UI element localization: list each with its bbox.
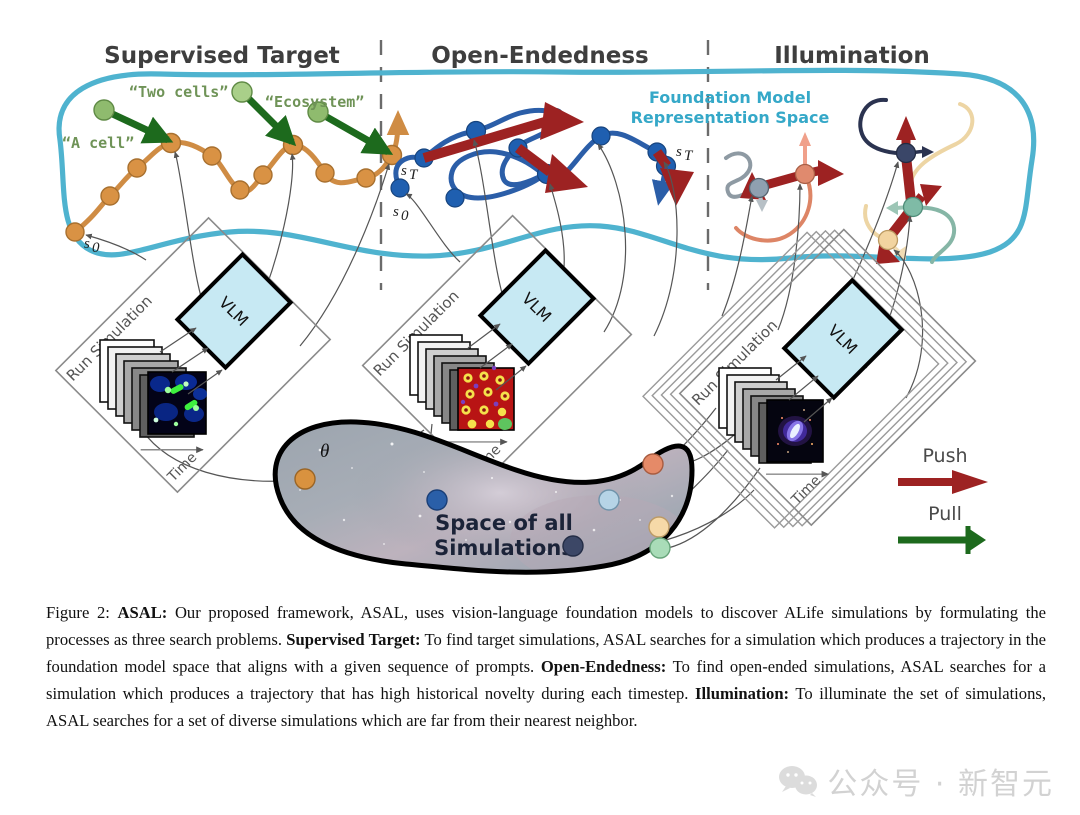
legend: Push Pull (898, 445, 988, 554)
teal-tail (913, 208, 954, 262)
legend-pull-arrow (898, 526, 986, 554)
trajectory-node (231, 181, 249, 199)
caption-heading-illumination: Illumination: (695, 684, 789, 703)
prompt-label-two-cells: “Two cells” (129, 83, 228, 101)
trajectory-node (592, 127, 610, 145)
illumination-point-gray (750, 179, 769, 198)
vlm-box-illumination: VLM (784, 280, 901, 397)
sim-point-ltblue (599, 490, 619, 510)
connector (175, 152, 202, 300)
state-label-s0-sub: 0 (401, 208, 409, 224)
state-label-sT-sub: T (409, 167, 419, 183)
connector (654, 162, 677, 336)
figure-root: Supervised Target Open-Endedness Illumin… (0, 0, 1080, 815)
prompt-dot (94, 100, 114, 120)
column-title-open-endedness: Open-Endedness (431, 43, 649, 69)
sim-point-navy (563, 536, 583, 556)
legend-push-arrow (898, 470, 988, 494)
sim-point-green (650, 538, 670, 558)
frame-stack-openended (410, 335, 514, 430)
illumination-point-teal (904, 198, 923, 217)
trajectory-node (128, 159, 146, 177)
trajectory-node (316, 164, 334, 182)
caption-heading-openendedness: Open-Endedness: (541, 657, 666, 676)
frame-arrow (160, 328, 196, 352)
frame-arrow (468, 324, 500, 348)
pull-arrow (318, 112, 388, 152)
illumination-point-tan (879, 231, 898, 250)
vlm-box-supervised: VLM (177, 254, 290, 367)
small-arrow-head (799, 132, 811, 146)
prompt-label-a-cell: “A cell” (62, 134, 134, 152)
watermark: 公众号 · 新智元 (778, 759, 1054, 803)
run-simulation-box-illumination: Run Simulation Time (643, 213, 975, 545)
legend-label-pull: Pull (928, 503, 962, 525)
trajectory-node (66, 223, 84, 241)
prompt-dot (232, 82, 252, 102)
state-label-s0: s (393, 204, 399, 220)
column-title-supervised-target: Supervised Target (104, 43, 340, 69)
column-title-illumination: Illumination (774, 43, 930, 69)
caption-title: ASAL: (118, 603, 168, 622)
sim-point-tan (649, 517, 669, 537)
frame-arrow (172, 348, 208, 372)
sim-point-salmon (643, 454, 663, 474)
blob-label-line1: Space of all (435, 511, 573, 535)
state-label-sT-sub: T (684, 148, 694, 164)
tan-tail (910, 104, 973, 208)
watermark-text: 公众号 · 新智元 (827, 759, 1054, 803)
navy-tail (860, 100, 906, 153)
illumination-point-navy (897, 144, 916, 163)
figure-caption: Figure 2: ASAL: Our proposed framework, … (46, 600, 1046, 734)
sim-thumbnail-galaxy-blue (767, 400, 823, 462)
illumination-point-salmon (796, 165, 815, 184)
sim-thumbnail-cells-blue-green (148, 372, 207, 434)
time-label: Time (164, 450, 200, 486)
prompt-label-ecosystem: “Ecosystem” (265, 93, 364, 111)
state-label-sT: s (676, 144, 682, 160)
frame-stack-supervised (100, 340, 207, 437)
small-arrow-head (756, 200, 768, 212)
sim-point-orange (295, 469, 315, 489)
connector (598, 144, 626, 332)
sim-point-blue (427, 490, 447, 510)
space-of-all-simulations: θ Space of all Simulations (260, 410, 710, 590)
push-arrow (424, 102, 584, 158)
blob-starfield (260, 410, 710, 590)
sim-thumbnail-cells-red-yellow (458, 366, 514, 430)
theta-label: θ (320, 441, 329, 462)
small-arrow-head (886, 201, 898, 215)
foundation-space-label-line2: Representation Space (631, 108, 830, 127)
trajectory-node (101, 187, 119, 205)
foundation-space-label-line1: Foundation Model (649, 88, 811, 107)
caption-heading-supervised: Supervised Target: (286, 630, 420, 649)
vlm-box-openended: VLM (480, 250, 593, 363)
state-label-sT: s (401, 163, 407, 179)
trajectory-node (446, 189, 464, 207)
trajectory-node (357, 169, 375, 187)
wechat-icon (778, 765, 818, 797)
state-label-s0: s (84, 236, 90, 252)
caption-prefix: Figure 2: (46, 603, 110, 622)
state-label-s0-sub: 0 (92, 240, 100, 256)
time-label: Time (788, 473, 824, 509)
asal-framework-diagram: Supervised Target Open-Endedness Illumin… (0, 0, 1080, 600)
legend-label-push: Push (922, 445, 967, 467)
blob-label-line2: Simulations (434, 536, 574, 560)
connector (474, 140, 504, 300)
column-titles: Supervised Target Open-Endedness Illumin… (104, 43, 930, 69)
trajectory-node (254, 166, 272, 184)
trajectory-node (203, 147, 221, 165)
